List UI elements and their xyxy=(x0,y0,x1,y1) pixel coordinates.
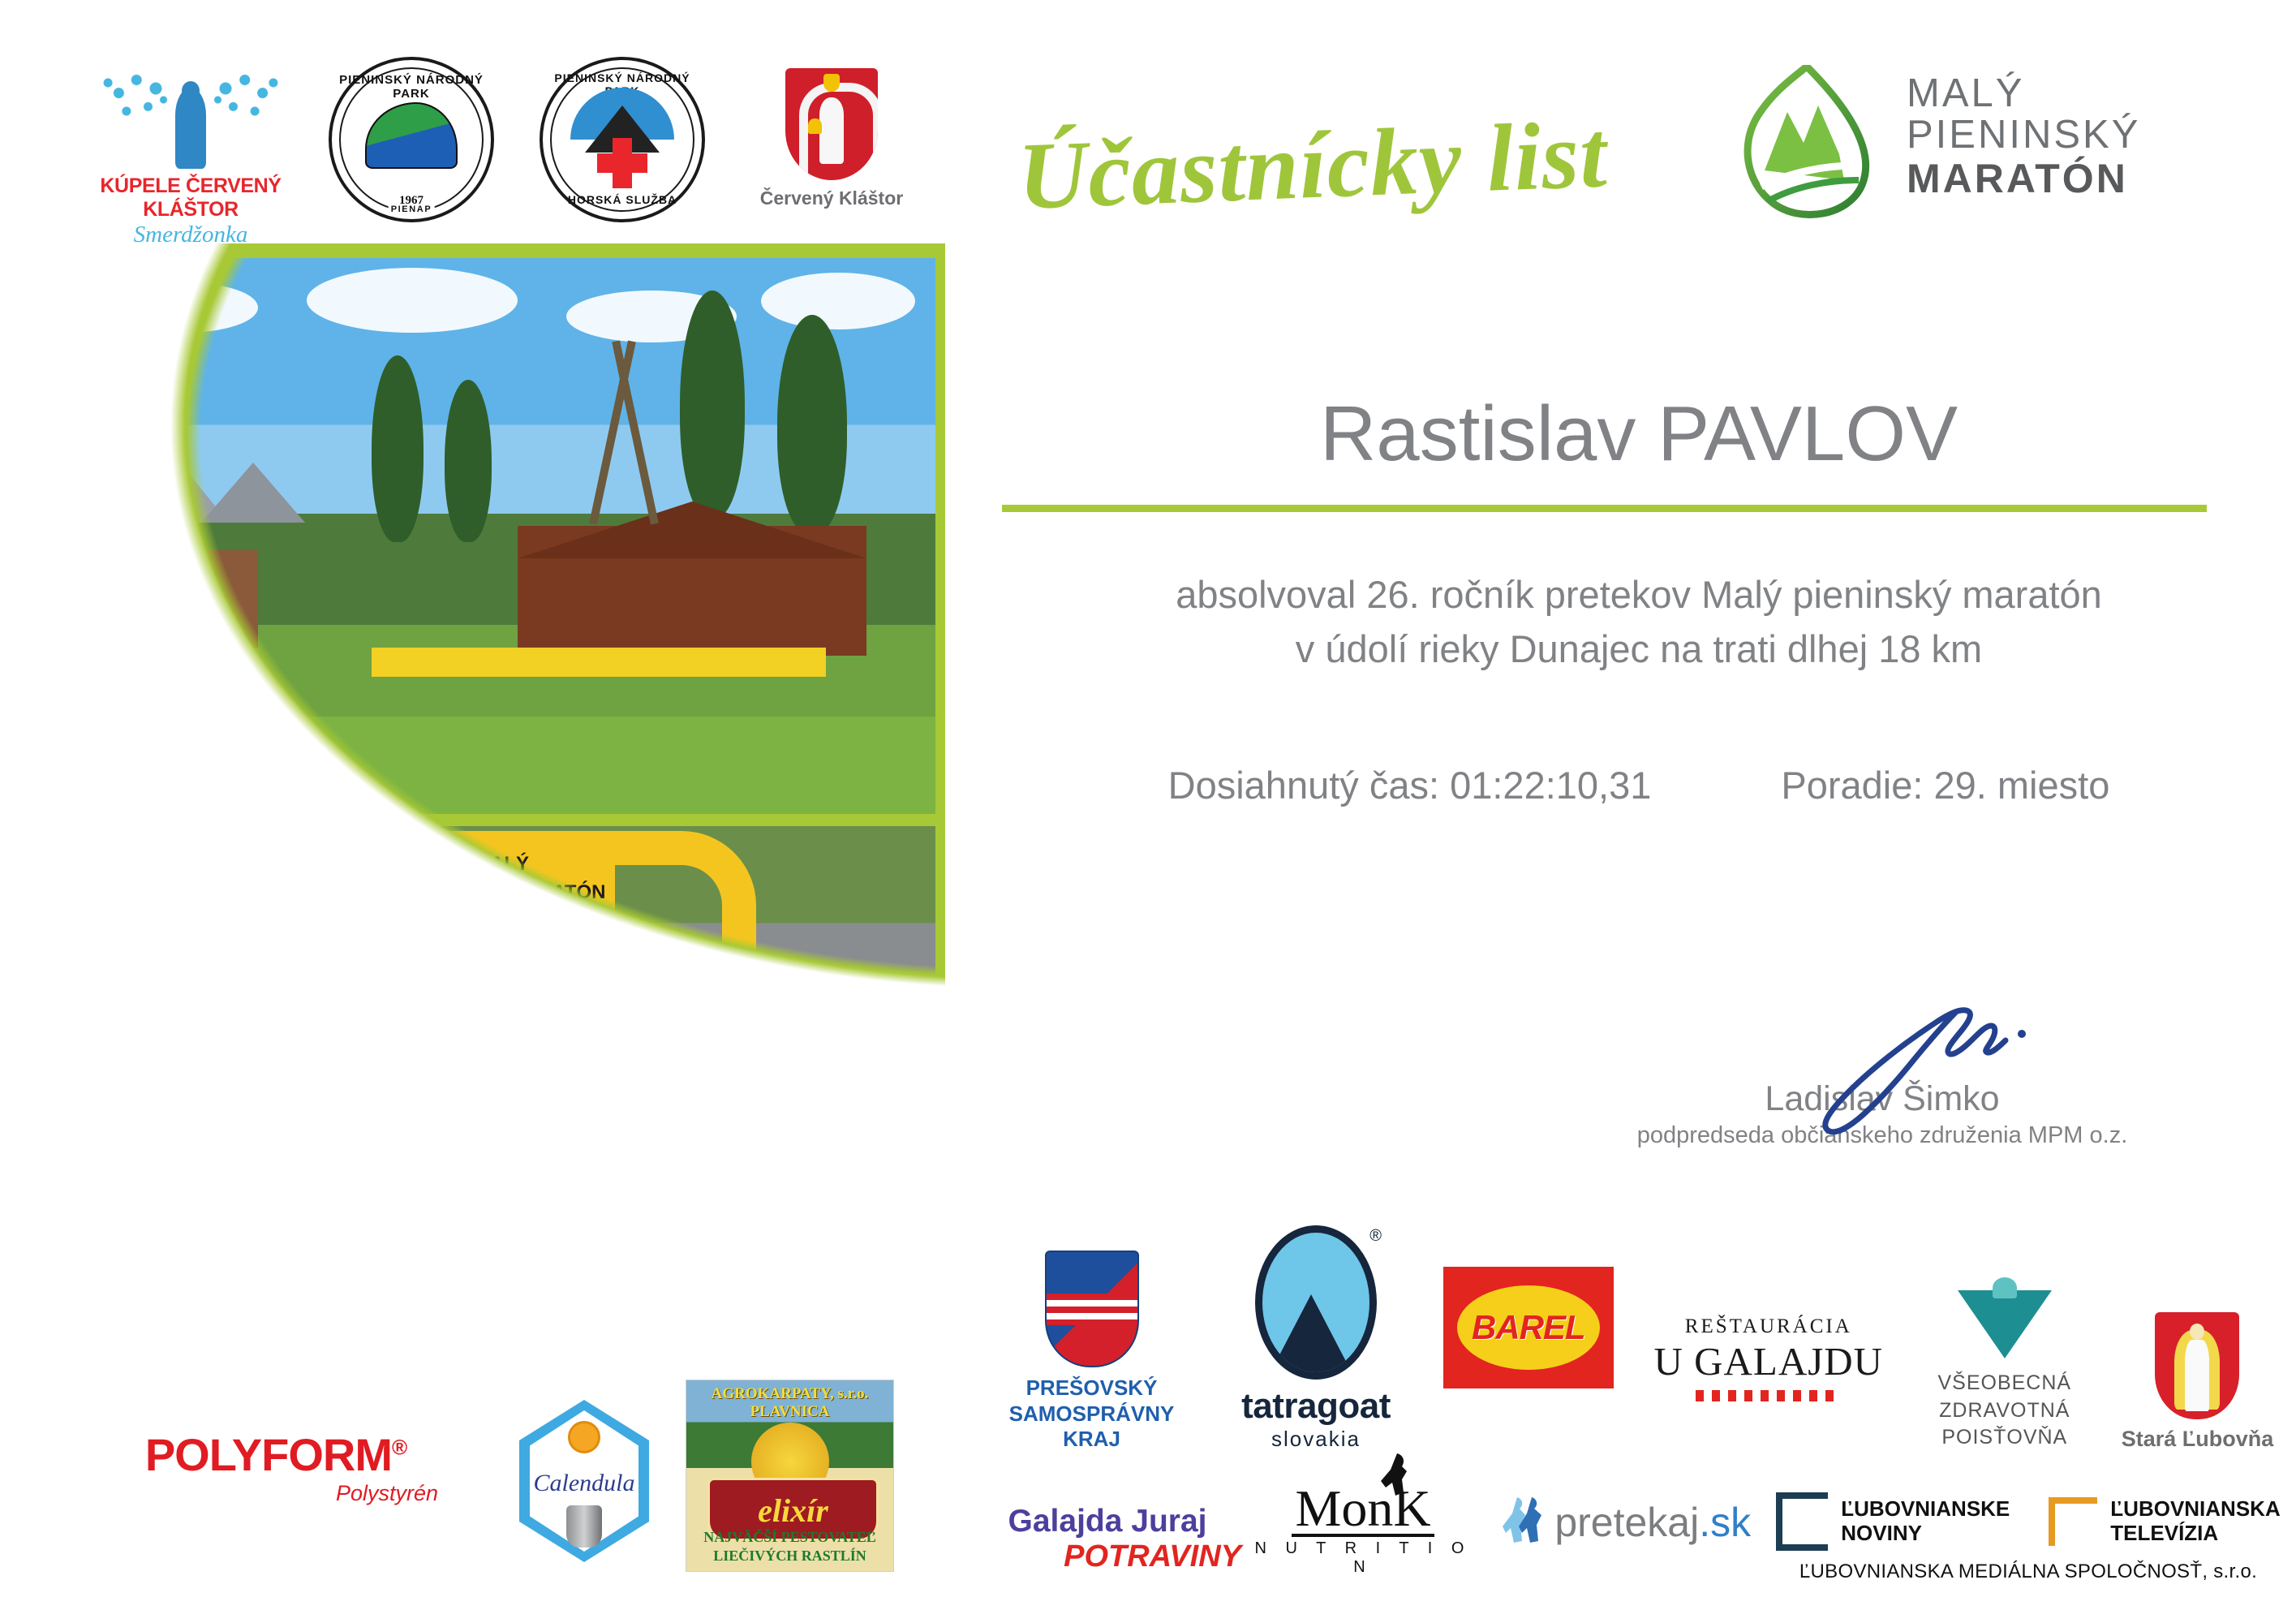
stara-lubovna-caption: Stará Ľubovňa xyxy=(2107,1427,2288,1452)
agrokarpaty-label-icon: AGROKARPATY, s.r.o. PLAVNICA elixír NAJV… xyxy=(686,1380,894,1572)
ln-line-1: ĽUBOVNIANSKE xyxy=(1841,1497,2010,1522)
tatragoat-word: tatragoat xyxy=(1210,1386,1422,1427)
photo-collage-panel: MALÝ PIENINSKÝ MARATÓN 209 74 249 147 19… xyxy=(49,243,945,1380)
arch-line-2: PIENINSKÝ MARATÓN xyxy=(398,881,606,903)
pretekaj-word: pretekaj xyxy=(1554,1500,1699,1545)
description-line-1: absolvoval 26. ročník pretekov Malý pien… xyxy=(1014,568,2264,622)
sponsor-stara-lubovna: Stará Ľubovňa xyxy=(2107,1312,2288,1452)
sponsor-polyform: POLYFORM® Polystyrén xyxy=(114,1428,438,1506)
barel-word: BAREL xyxy=(1472,1308,1585,1347)
barel-logo-icon: BAREL xyxy=(1443,1267,1614,1388)
lt-monogram-icon xyxy=(2049,1497,2097,1546)
description-line-2: v údolí rieky Dunajec na trati dlhej 18 … xyxy=(1014,622,2264,677)
participant-name: Rastislav PAVLOV xyxy=(1014,390,2264,479)
psk-line-3: KRAJ xyxy=(974,1427,1210,1452)
sponsor-barel: BAREL xyxy=(1422,1267,1635,1452)
sponsor-pretekaj-sk: pretekaj.sk xyxy=(1485,1484,1769,1546)
arch-line-1: MALÝ xyxy=(474,853,529,875)
sponsor-lubovnianske-noviny: ĽUBOVNIANSKE NOVINY xyxy=(1776,1492,2010,1551)
sponsor-vseobecna-zdravotna-poistovna: VŠEOBECNÁ ZDRAVOTNÁ POISŤOVŇA xyxy=(1903,1277,2107,1452)
agrokarpaty-bottom-2: LIEČIVÝCH RASTLÍN xyxy=(686,1547,893,1565)
tatragoat-chamois-icon xyxy=(1255,1225,1377,1380)
bib-number: 234 xyxy=(771,1114,821,1143)
galajda-line-2: POTRAVINY xyxy=(974,1539,1241,1574)
finish-time: Dosiahnutý čas: 01:22:10,31 xyxy=(1168,763,1652,807)
vzp-line-2: ZDRAVOTNÁ xyxy=(1903,1397,2107,1425)
cerveny-klastor-caption: Červený Kláštor xyxy=(755,187,909,209)
agrokarpaty-bottom-1: NAJVÄČŠÍ PESTOVATEĽ xyxy=(686,1528,893,1547)
logo-cerveny-klastor: Červený Kláštor xyxy=(755,68,909,209)
vzp-heart-v-icon xyxy=(1958,1277,2052,1362)
running-monk-icon xyxy=(1378,1452,1415,1499)
bib-number: 147 xyxy=(527,1122,578,1152)
event-venue-photo xyxy=(63,258,935,814)
partner-logo-strip: KÚPELE ČERVENÝ KLÁŠTOR Smerdžonka PIENIN… xyxy=(89,57,933,243)
galajda-line-1: Galajda Juraj xyxy=(974,1504,1241,1539)
maly-pieninsky-maraton-logo: MALÝ PIENINSKÝ MARATÓN xyxy=(1740,65,2276,223)
lt-line-1: ĽUBOVNIANSKA xyxy=(2110,1497,2280,1522)
hs-arc-bottom: HORSKÁ SLUŽBA xyxy=(543,193,702,206)
galajdu-line-2: U GALAJDU xyxy=(1635,1338,1903,1384)
pretekaj-tld: .sk xyxy=(1699,1500,1751,1545)
bib-number: 209 xyxy=(222,1151,273,1180)
psk-line-2: SAMOSPRÁVNY xyxy=(974,1401,1210,1427)
sponsor-grid: PREŠOVSKÝ SAMOSPRÁVNY KRAJ ® tatragoat s… xyxy=(974,1225,2288,1583)
tatragoat-sub: slovakia xyxy=(1210,1427,1422,1452)
logo-pienap: PIENINSKÝ NÁRODNÝ PARK PIENAP 1967 xyxy=(329,57,491,222)
brand-line-2: PIENINSKÝ xyxy=(1907,114,2140,156)
logo-horska-sluzba: PIENINSKÝ NÁRODNÝ PARK HORSKÁ SLUŽBA xyxy=(540,57,702,222)
ln-line-2: NOVINY xyxy=(1841,1522,2010,1546)
bib-number: 192 xyxy=(462,1070,513,1099)
green-divider xyxy=(1002,505,2207,512)
sponsor-lubovnianska-televizia: ĽUBOVNIANSKA TELEVÍZIA xyxy=(2049,1492,2280,1551)
agrokarpaty-top: AGROKARPATY, s.r.o. PLAVNICA xyxy=(686,1385,893,1421)
calendula-hex-icon: Calendula xyxy=(519,1400,649,1562)
registered-mark-icon: ® xyxy=(1369,1227,1382,1246)
folk-ornament-icon xyxy=(1696,1390,1842,1401)
elixir-word: elixír xyxy=(710,1492,876,1530)
leaf-mountain-icon xyxy=(1740,65,1874,219)
lubovnianska-medialna-spolocnost: ĽUBOVNIANSKA MEDIÁLNA SPOLOČNOSŤ, s.r.o. xyxy=(1769,1561,2288,1583)
bib-number: 249 xyxy=(391,1094,441,1123)
sponsor-presovsky-samospravny-kraj: PREŠOVSKÝ SAMOSPRÁVNY KRAJ xyxy=(974,1251,1210,1452)
signature-block: Ladislav Šimko podpredseda občianskeho z… xyxy=(1590,998,2174,1149)
polyform-sub: Polystyrén xyxy=(114,1481,438,1506)
brand-line-1: MALÝ xyxy=(1907,73,2140,114)
logo-kupele-cerveny-klastor: KÚPELE ČERVENÝ KLÁŠTOR Smerdžonka xyxy=(89,65,292,248)
psk-coat-of-arms-icon xyxy=(1045,1251,1139,1367)
pienap-year: 1967 xyxy=(332,194,491,208)
cerveny-klastor-shield-icon xyxy=(785,68,878,180)
sponsor-tatragoat: ® tatragoat slovakia xyxy=(1210,1225,1422,1452)
pienap-seal-icon: PIENINSKÝ NÁRODNÝ PARK PIENAP 1967 xyxy=(329,57,494,222)
sponsor-galajda-juraj-potraviny: Galajda Juraj POTRAVINY xyxy=(974,1484,1241,1574)
lt-line-2: TELEVÍZIA xyxy=(2110,1522,2280,1546)
certificate-description: absolvoval 26. ročník pretekov Malý pien… xyxy=(1014,568,2264,676)
page-title: Účastnícky list xyxy=(1016,99,1609,232)
handwritten-signature-icon xyxy=(1590,998,2174,1128)
pienap-arc-text: PIENINSKÝ NÁRODNÝ PARK xyxy=(332,73,491,101)
horska-sluzba-seal-icon: PIENINSKÝ NÁRODNÝ PARK HORSKÁ SLUŽBA xyxy=(540,57,705,222)
monk-sub: N U T R I T I O N xyxy=(1241,1539,1485,1577)
bib-number: 74 xyxy=(344,1118,394,1147)
sponsor-agrokarpaty-elixir: AGROKARPATY, s.r.o. PLAVNICA elixír NAJV… xyxy=(686,1380,892,1572)
rank-placement: Poradie: 29. miesto xyxy=(1781,763,2109,807)
sponsor-restauracia-u-galajdu: REŠTAURÁCIA U GALAJDU xyxy=(1635,1315,1903,1452)
polyform-word: POLYFORM xyxy=(145,1429,392,1480)
bib-number: 31 xyxy=(649,1147,699,1176)
psk-line-1: PREŠOVSKÝ xyxy=(974,1375,1210,1401)
race-start-photo: MALÝ PIENINSKÝ MARATÓN 209 74 249 147 19… xyxy=(63,826,935,1365)
water-angel-icon xyxy=(89,65,292,174)
registered-mark-icon: ® xyxy=(392,1435,406,1459)
ln-monogram-icon xyxy=(1776,1492,1828,1551)
brand-line-3: MARATÓN xyxy=(1907,157,2140,201)
two-runners-icon xyxy=(1503,1496,1545,1546)
vzp-line-1: VŠEOBECNÁ xyxy=(1903,1370,2107,1397)
stara-lubovna-coat-of-arms-icon xyxy=(2155,1312,2239,1419)
sponsor-monk-nutrition: MonK N U T R I T I O N xyxy=(1241,1484,1485,1577)
result-row: Dosiahnutý čas: 01:22:10,31 Poradie: 29.… xyxy=(1014,763,2264,807)
vzp-line-3: POISŤOVŇA xyxy=(1903,1424,2107,1452)
kupele-title: KÚPELE ČERVENÝ KLÁŠTOR xyxy=(89,174,292,222)
sponsor-calendula: Calendula xyxy=(499,1400,669,1562)
calendula-word: Calendula xyxy=(519,1470,649,1497)
galajdu-line-1: REŠTAURÁCIA xyxy=(1635,1315,1903,1338)
